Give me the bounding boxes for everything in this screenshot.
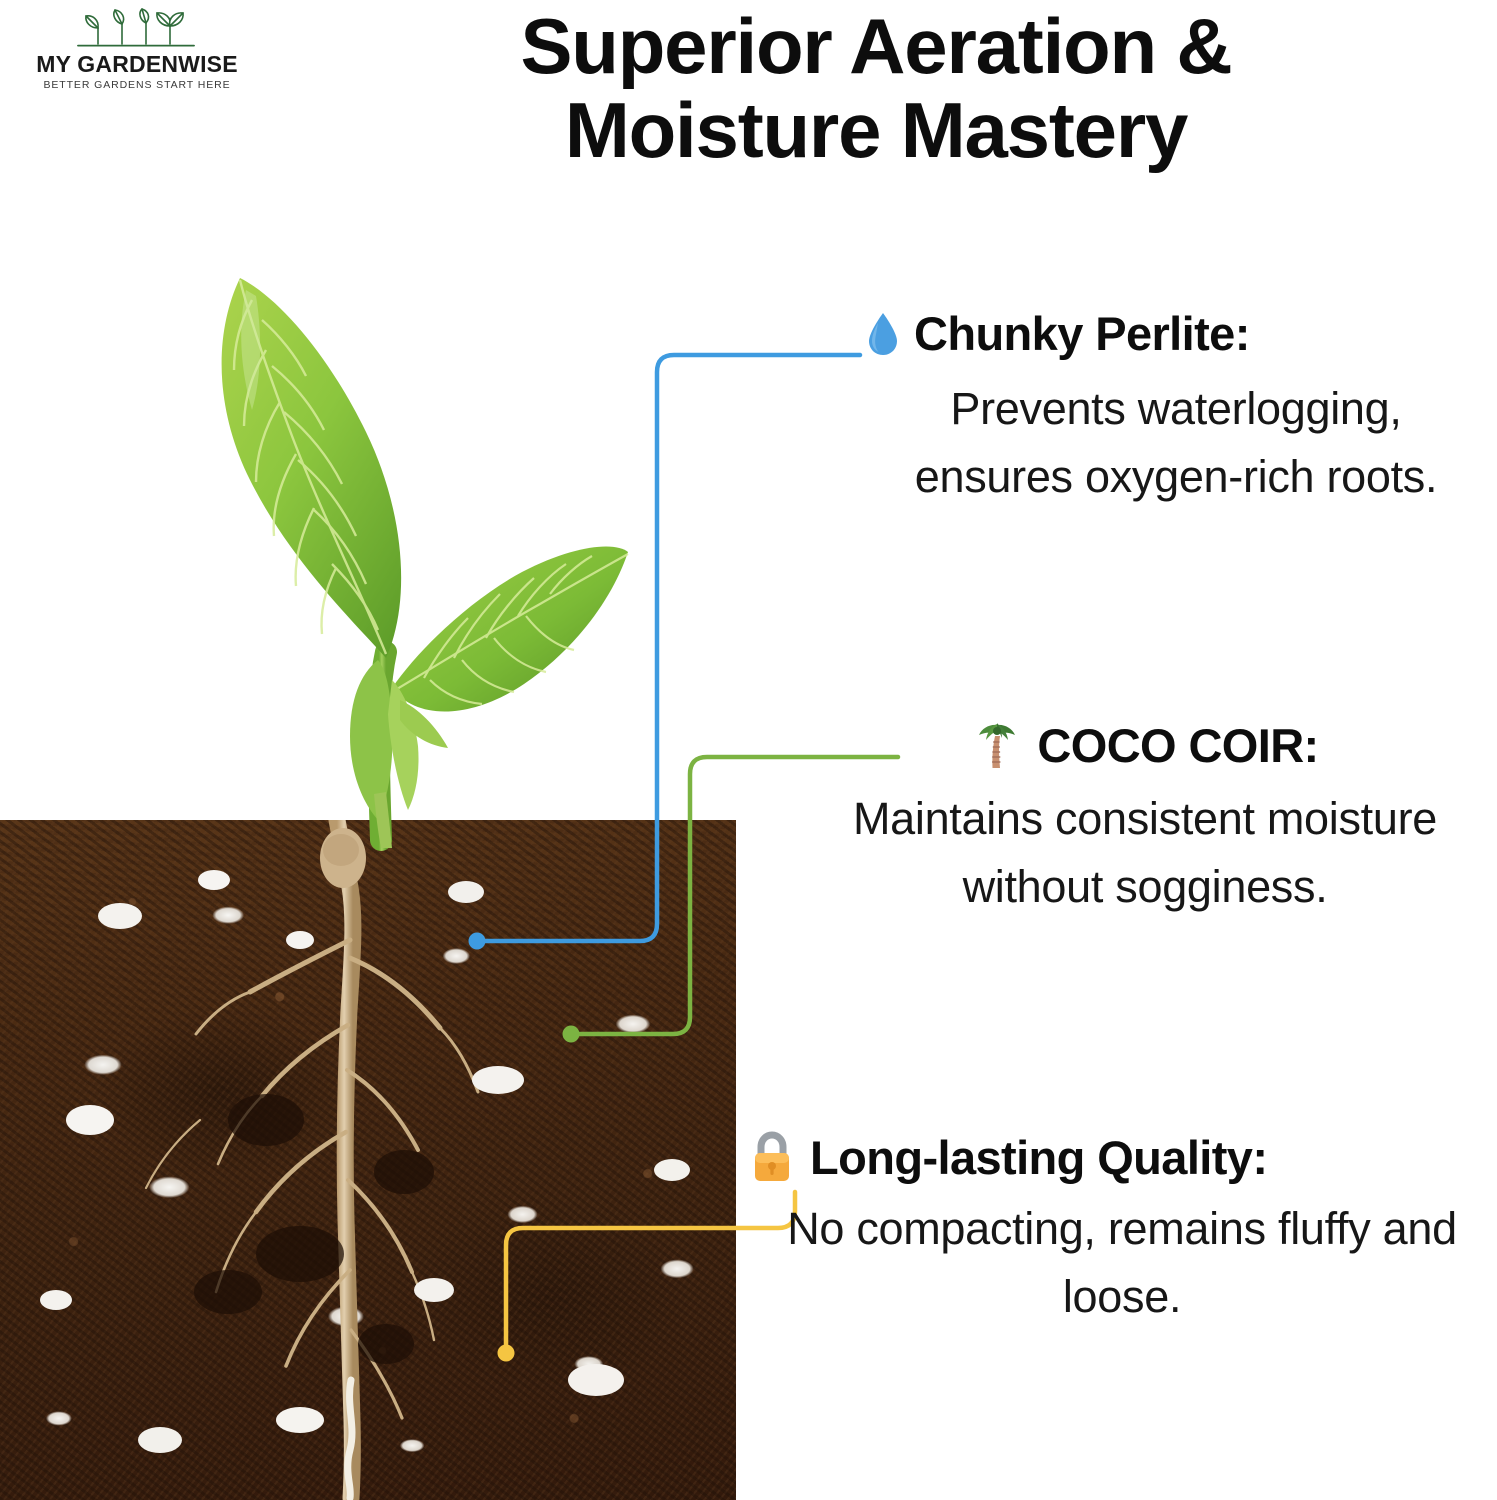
callout-perlite: Chunky Perlite: Prevents waterlogging, e… (866, 306, 1486, 512)
callout-perlite-heading-row: Chunky Perlite: (866, 306, 1486, 361)
page-title-line-2: Moisture Mastery (286, 88, 1466, 172)
page-title-line-1: Superior Aeration & (520, 2, 1231, 90)
palm-tree-icon (971, 720, 1023, 772)
callout-quality-body: No compacting, remains fluffy and loose. (748, 1195, 1496, 1332)
callout-quality-heading-row: Long-lasting Quality: (748, 1130, 1496, 1185)
callout-quality-heading: Long-lasting Quality: (810, 1130, 1267, 1185)
page-title: Superior Aeration & Moisture Mastery (286, 4, 1466, 172)
brand-name: MY GARDENWISE (12, 52, 262, 76)
root-system (0, 820, 736, 1500)
sprout-seedlings-icon (12, 6, 262, 52)
seedling-soil-photo (0, 180, 736, 1500)
lock-icon (748, 1131, 796, 1185)
callout-perlite-body: Prevents waterlogging, ensures oxygen-ri… (866, 375, 1486, 512)
infographic-page: MY GARDENWISE BETTER GARDENS START HERE … (0, 0, 1497, 1500)
callout-coco: COCO COIR: Maintains consistent moisture… (800, 718, 1490, 922)
callout-coco-heading: COCO COIR: (1037, 718, 1318, 773)
brand-logo: MY GARDENWISE BETTER GARDENS START HERE (12, 6, 262, 91)
callout-quality: Long-lasting Quality: No compacting, rem… (748, 1130, 1496, 1332)
water-drop-icon (866, 311, 900, 357)
brand-tagline: BETTER GARDENS START HERE (12, 79, 262, 91)
seedling-plant (0, 180, 736, 880)
callout-perlite-heading: Chunky Perlite: (914, 306, 1250, 361)
callout-coco-body: Maintains consistent moisture without so… (800, 785, 1490, 922)
callout-coco-heading-row: COCO COIR: (800, 718, 1490, 773)
